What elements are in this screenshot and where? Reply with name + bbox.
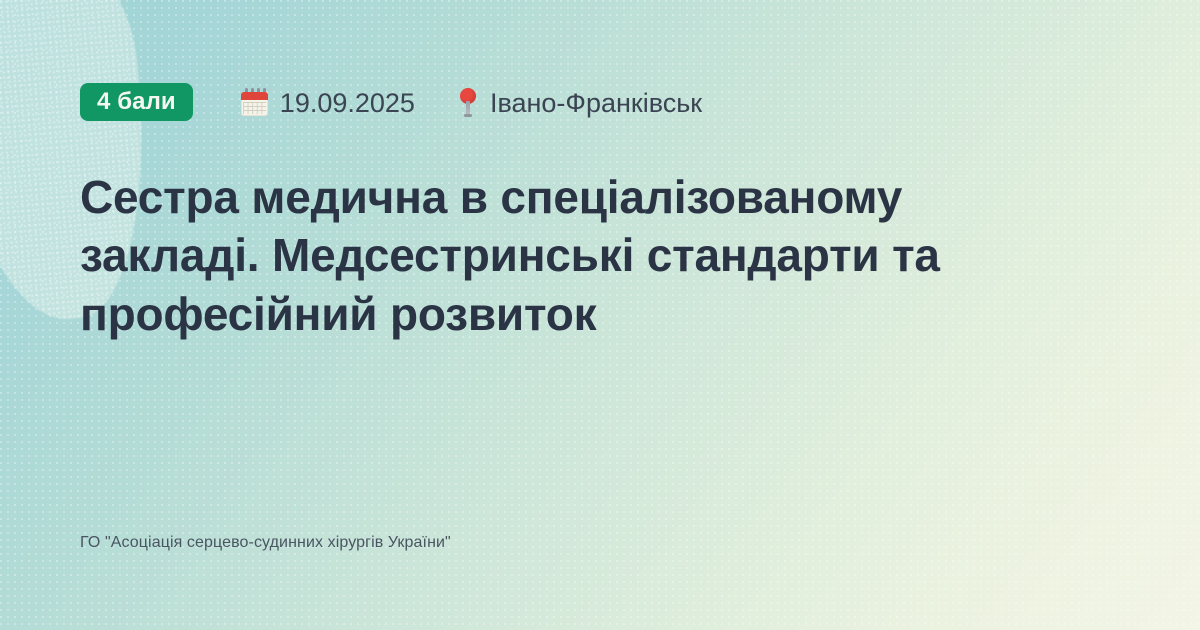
event-card: 4 бали 19.09.2025 Іван: [0, 0, 1200, 630]
meta-row: 4 бали 19.09.2025 Іван: [80, 83, 1120, 121]
event-location: Івано-Франківськ: [457, 87, 702, 117]
event-date-text: 19.09.2025: [280, 90, 415, 117]
calendar-icon: [240, 88, 269, 117]
organizer-label: ГО "Асоціація серцево-судинних хірургів …: [80, 534, 1120, 552]
card-content: 4 бали 19.09.2025 Іван: [0, 0, 1200, 630]
layout-spacer: [80, 343, 1120, 534]
points-badge: 4 бали: [80, 83, 193, 121]
event-date: 19.09.2025: [240, 88, 415, 117]
map-pin-icon: [457, 87, 479, 117]
event-location-text: Івано-Франківськ: [490, 90, 702, 117]
page-title: Сестра медична в спеціалізованому заклад…: [80, 168, 1090, 343]
